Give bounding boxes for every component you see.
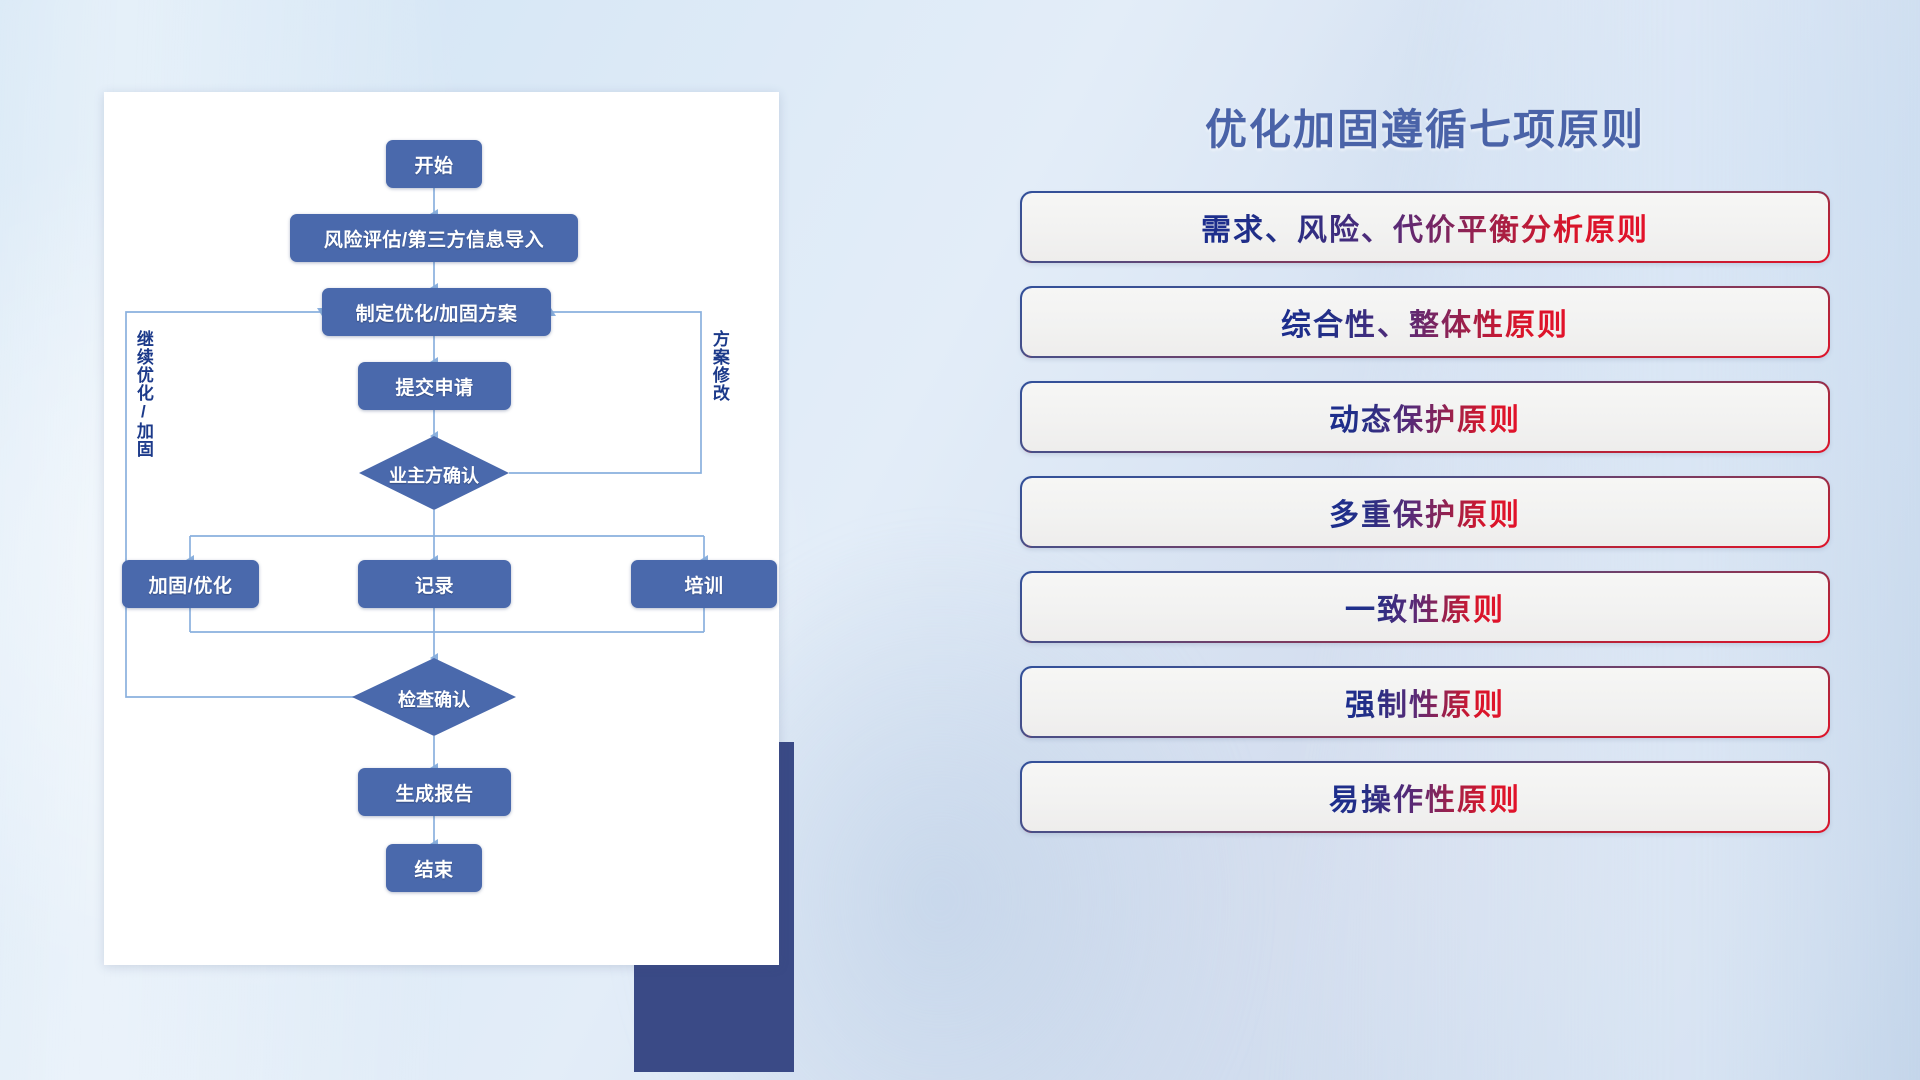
decision-check-confirm [352,658,516,736]
flow-node-training[interactable]: 培训 [631,560,777,608]
flow-node-risk-assessment[interactable]: 风险评估/第三方信息导入 [290,214,578,262]
principle-label: 易操作性原则 [1329,775,1521,819]
principle-card[interactable]: 动态保护原则 [1020,381,1830,453]
flow-node-reinforce-optimize[interactable]: 加固/优化 [122,560,259,608]
flow-node-label: 记录 [415,571,454,598]
flow-node-label: 生成报告 [395,779,473,806]
flow-node-make-plan[interactable]: 制定优化/加固方案 [322,288,551,336]
flow-node-label: 制定优化/加固方案 [356,299,518,326]
principle-card[interactable]: 一致性原则 [1020,571,1830,643]
flow-node-label: 风险评估/第三方信息导入 [324,225,544,252]
flow-node-record[interactable]: 记录 [358,560,511,608]
flow-node-submit-application[interactable]: 提交申请 [358,362,511,410]
principle-card[interactable]: 强制性原则 [1020,666,1830,738]
principle-label: 强制性原则 [1345,680,1505,724]
flow-node-label: 培训 [684,571,723,598]
flow-node-label: 结束 [414,855,453,882]
flow-node-label: 开始 [414,151,453,178]
flow-edge-label-plan-revision: 方案修改 [710,330,728,402]
principle-card[interactable]: 综合性、整体性原则 [1020,286,1830,358]
decision-owner-confirm [359,436,509,510]
principle-label: 一致性原则 [1345,585,1505,629]
flow-node-start[interactable]: 开始 [386,140,482,188]
flowchart-panel: 开始 风险评估/第三方信息导入 制定优化/加固方案 提交申请 业主方确认 加固/… [104,92,794,982]
principles-list: 需求、风险、代价平衡分析原则 综合性、整体性原则 动态保护原则 多重保护原则 一… [1020,191,1830,833]
flow-node-label: 加固/优化 [149,571,233,598]
flow-node-generate-report[interactable]: 生成报告 [358,768,511,816]
principle-label: 多重保护原则 [1329,490,1521,534]
flow-node-end[interactable]: 结束 [386,844,482,892]
principles-panel: 优化加固遵循七项原则 需求、风险、代价平衡分析原则 综合性、整体性原则 动态保护… [1020,96,1830,1016]
principle-label: 动态保护原则 [1329,395,1521,439]
flow-node-label: 提交申请 [395,373,473,400]
principle-card[interactable]: 易操作性原则 [1020,761,1830,833]
page-title: 优化加固遵循七项原则 [1020,96,1830,157]
principle-label: 综合性、整体性原则 [1281,300,1569,344]
principle-card[interactable]: 需求、风险、代价平衡分析原则 [1020,191,1830,263]
flow-edge-label-continue-optimize: 继续优化/加固 [134,330,152,458]
flowchart-card: 开始 风险评估/第三方信息导入 制定优化/加固方案 提交申请 业主方确认 加固/… [104,92,779,965]
principle-label: 需求、风险、代价平衡分析原则 [1201,205,1649,249]
principle-card[interactable]: 多重保护原则 [1020,476,1830,548]
slide-root: 开始 风险评估/第三方信息导入 制定优化/加固方案 提交申请 业主方确认 加固/… [0,0,1920,1080]
